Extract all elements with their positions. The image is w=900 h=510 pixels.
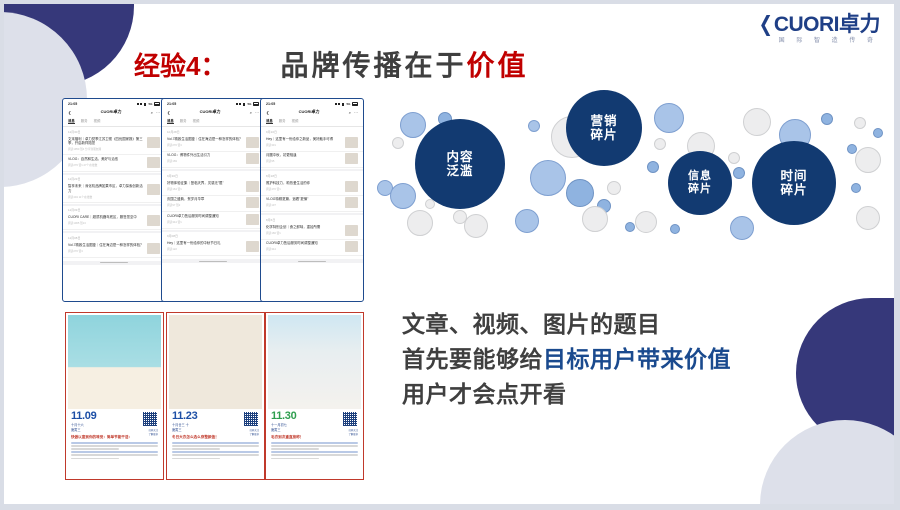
feed-item-thumbnail bbox=[246, 137, 259, 148]
feed-item-thumbnail bbox=[345, 153, 358, 164]
feed-item[interactable]: Hey｜这里有一份给你的中秋节日礼 阅读122 bbox=[162, 240, 264, 257]
feed-item[interactable]: VLOG特辑夏篇，追看"夏懂" 阅读137 bbox=[261, 196, 363, 213]
title-main-highlight: 价值 bbox=[466, 50, 528, 81]
feed-item-title: 化学特别企划｜食之鲜味，重拾所需 bbox=[266, 225, 342, 230]
feed-group: 8月6日 化学特别企划｜食之鲜味，重拾所需 阅读166 赞1 CUORI卓力售后… bbox=[261, 215, 363, 257]
feed-group: 9月10日 Hey｜这里有一份给你之新品，美好触手可得 阅读331 月圆中秋，初… bbox=[261, 127, 363, 169]
feed-item-thumbnail bbox=[147, 137, 160, 148]
feed-item[interactable]: CUORI卓力售后服务时间调整通知 阅读344 赞1 bbox=[162, 212, 264, 229]
feed-item[interactable]: VLOG：自然和生活，美好与治愈 阅读276 赞1 27个在线数 bbox=[63, 155, 165, 172]
bubble-major-3: 信息碎片 bbox=[668, 151, 732, 215]
bubble-decorative bbox=[873, 128, 883, 138]
poster-headline: 快做以度到你的味觉：简单节能干活： bbox=[71, 435, 158, 440]
status-icons: 5G bbox=[236, 102, 259, 106]
tab-1[interactable]: 服务 bbox=[180, 118, 187, 124]
search-icon[interactable]: ⌕ bbox=[250, 110, 252, 115]
home-indicator bbox=[63, 261, 165, 265]
status-icons: 5G bbox=[335, 102, 358, 106]
feed-item-thumbnail bbox=[246, 181, 259, 192]
bubble-decorative bbox=[851, 183, 861, 193]
feed-group: 11月09日 CUORI CARE｜超质机器年底区，服售您至中 阅读1065 赞… bbox=[63, 206, 165, 232]
feed-group: 10月28日 Vol.7精致生活图鉴｜住在海边是一种怎样的体验？ 阅读270 赞… bbox=[162, 127, 264, 169]
feed-item-thumbnail bbox=[147, 215, 160, 226]
feed-item-title: Vol.7精致生活图鉴｜住在海边是一种怎样的体验？ bbox=[167, 137, 243, 142]
feed-item-thumbnail bbox=[345, 197, 358, 208]
phone-nav-title: CUORI卓力 bbox=[101, 109, 122, 115]
feed-item-meta: 阅读331 bbox=[266, 143, 342, 147]
home-indicator bbox=[261, 259, 363, 263]
feed-item-title: Vol.7精致生活图鉴｜住在海边是一种怎样的体验？ bbox=[68, 243, 144, 248]
bubble-label: 时间碎片 bbox=[780, 169, 807, 198]
feed-item-title: 庆国之盛典，贺岁月华章 bbox=[167, 197, 243, 202]
feed-item-meta: 阅读344 bbox=[266, 247, 342, 251]
phone-tabs: 消息服务视频 bbox=[261, 117, 363, 127]
poster-1130: 11.30 十一月初七庚寅三 毛衣到次重直接称！ 扫码关注了解更多 bbox=[265, 312, 364, 480]
home-indicator bbox=[162, 259, 264, 263]
bubble-decorative bbox=[647, 161, 659, 173]
feed-item-thumbnail bbox=[345, 225, 358, 236]
bubble-major-2: 营销碎片 bbox=[566, 90, 642, 166]
poster-artwork bbox=[268, 315, 361, 409]
message-line-3: 用户才会点开看 bbox=[402, 377, 731, 412]
bubble-major-4: 时间碎片 bbox=[752, 141, 836, 225]
bubble-label: 内容泛滥 bbox=[446, 150, 473, 179]
bubble-decorative bbox=[530, 160, 566, 196]
tab-2[interactable]: 视频 bbox=[292, 118, 299, 124]
phone-3: 21:05 5G ❮ CUORI卓力 ⌕ ··· 消息服务视频9月10日 Hey… bbox=[260, 98, 364, 302]
feed-item[interactable]: 文末福利｜卓力熨季江苏卫视《四优国家报》第三季，开启新样陪您 阅读1950 赞4… bbox=[63, 135, 165, 155]
tab-0[interactable]: 消息 bbox=[167, 118, 174, 124]
bubble-decorative bbox=[856, 206, 880, 230]
tab-2[interactable]: 视频 bbox=[193, 118, 200, 124]
logo-chevron-icon: ❮ bbox=[758, 14, 772, 35]
feed-group: 9月30日 好物体验征集｜登临天界，灵感无"限" 阅读164 赞1 庆国之盛典，… bbox=[162, 171, 264, 230]
status-time: 21:05 bbox=[167, 102, 176, 106]
feed-item-thumbnail bbox=[345, 137, 358, 148]
brand-logo: ❮CUORI卓力 国 际 智 造 传 奇 bbox=[757, 14, 880, 44]
title-main-prefix: 品牌传播在于 bbox=[280, 50, 466, 81]
qr-code[interactable] bbox=[142, 411, 158, 427]
logo-wordmark: ❮CUORI卓力 bbox=[757, 14, 880, 35]
bubble-label: 信息碎片 bbox=[688, 170, 712, 195]
bubble-decorative bbox=[464, 214, 488, 238]
status-icons: 5G bbox=[137, 102, 160, 106]
phone-feed: 11月30日 文末福利｜卓力熨季江苏卫视《四优国家报》第三季，开启新样陪您 阅读… bbox=[63, 127, 165, 259]
poster-headline: 冬日大衣怎么选么穿整颜值！ bbox=[172, 435, 259, 440]
phone-nav-bar: ❮ CUORI卓力 ⌕ ··· bbox=[63, 107, 165, 117]
feed-item[interactable]: CUORI卓力售后服务时间调整通知 阅读344 bbox=[261, 240, 363, 257]
feed-item-title: 好物体验征集｜登临天界，灵感无"限" bbox=[167, 181, 243, 186]
feed-item-title: CUORI卓力售后服务时间调整通知 bbox=[167, 214, 243, 219]
feed-item[interactable]: Hey｜这里有一份给你之新品，美好触手可得 阅读331 bbox=[261, 135, 363, 152]
feed-item[interactable]: 智享未来｜深化机品牌如果市区，卓力探索创新活力 阅读404 11个在线数 bbox=[63, 183, 165, 203]
feed-item-title: CUORI CARE｜超质机器年底区，服售您至中 bbox=[68, 215, 144, 220]
bubble-decorative bbox=[566, 179, 594, 207]
feed-item-thumbnail bbox=[246, 214, 259, 225]
tab-0[interactable]: 消息 bbox=[68, 118, 75, 124]
feed-item[interactable]: 好物体验征集｜登临天界，灵感无"限" 阅读164 赞1 bbox=[162, 179, 264, 196]
feed-item-meta: 阅读470 赞1 bbox=[266, 187, 342, 191]
bubble-decorative bbox=[854, 117, 866, 129]
decoration-bottom-right-grey bbox=[760, 420, 894, 504]
phone-2: 21:05 5G ❮ CUORI卓力 ⌕ ··· 消息服务视频10月28日 Vo… bbox=[161, 98, 265, 302]
poster-headline: 毛衣到次重直接称！ bbox=[271, 435, 358, 440]
feed-item-meta: 阅读97 赞2 bbox=[167, 203, 243, 207]
feed-date: 11月23日 bbox=[63, 175, 165, 183]
poster-body-text bbox=[271, 442, 358, 459]
feed-item-thumbnail bbox=[246, 153, 259, 164]
bubble-decorative bbox=[582, 206, 608, 232]
battery-icon bbox=[352, 102, 358, 105]
phone-nav-title: CUORI卓力 bbox=[299, 109, 320, 115]
feed-item-meta: 阅读404 11个在线数 bbox=[68, 195, 144, 199]
feed-group: 11月08日 Vol.7精致生活图鉴｜住在海边是一种怎样的体验？ 阅读270 赞… bbox=[63, 233, 165, 259]
feed-date: 9月08日 bbox=[162, 232, 264, 240]
feed-item[interactable]: Vol.7精致生活图鉴｜住在海边是一种怎样的体验？ 阅读270 赞4 bbox=[162, 135, 264, 152]
feed-date: 8月6日 bbox=[261, 215, 363, 223]
feed-item-title: Hey｜这里有一份给你的中秋节日礼 bbox=[167, 241, 243, 246]
decoration-top-left-navy bbox=[4, 4, 134, 86]
bubble-decorative bbox=[528, 120, 540, 132]
feed-item-meta: 阅读1950 赞4 分享到朋友圈 bbox=[68, 147, 144, 151]
feed-item-meta: 阅读344 赞1 bbox=[167, 220, 243, 224]
feed-item-thumbnail bbox=[345, 181, 358, 192]
message-line-2-prefix: 首先要能够给 bbox=[402, 346, 543, 372]
feed-item-meta: 阅读166 赞1 bbox=[266, 231, 342, 235]
bubble-decorative bbox=[670, 224, 680, 234]
qr-code[interactable] bbox=[243, 411, 259, 427]
tab-2[interactable]: 视频 bbox=[94, 118, 101, 124]
phone-nav-bar: ❮ CUORI卓力 ⌕ ··· bbox=[261, 107, 363, 117]
feed-item-title: VLOG：博物件外出生活引力 bbox=[167, 153, 243, 158]
bubble-decorative bbox=[728, 152, 740, 164]
feed-item-thumbnail bbox=[147, 157, 160, 168]
feed-item-meta: 阅读169 bbox=[167, 159, 243, 163]
search-icon[interactable]: ⌕ bbox=[349, 110, 351, 115]
feed-date: 11月30日 bbox=[63, 127, 165, 135]
bubble-decorative bbox=[847, 144, 857, 154]
feed-item-meta: 阅读270 赞4 bbox=[167, 143, 243, 147]
bubble-decorative bbox=[654, 138, 666, 150]
back-icon[interactable]: ❮ bbox=[167, 110, 170, 115]
feed-item-meta: 阅读270 赞4 bbox=[68, 249, 144, 253]
feed-item-title: 月圆中秋，初更相逢 bbox=[266, 153, 342, 158]
feed-item-title: VLOG特辑夏篇，追看"夏懂" bbox=[266, 197, 342, 202]
feed-item-title: VLOG：自然和生活，美好与治愈 bbox=[68, 157, 144, 162]
phone-nav-bar: ❮ CUORI卓力 ⌕ ··· bbox=[162, 107, 264, 117]
bubble-decorative bbox=[855, 147, 881, 173]
message-line-1: 文章、视频、图片的题目 bbox=[402, 307, 731, 342]
battery-icon bbox=[154, 102, 160, 105]
bubble-decorative bbox=[821, 113, 833, 125]
feed-date: 9月30日 bbox=[162, 171, 264, 179]
bubble-decorative bbox=[515, 209, 539, 233]
feed-item-thumbnail bbox=[246, 197, 259, 208]
qr-caption: 扫码关注了解更多 bbox=[148, 428, 158, 436]
qr-caption: 扫码关注了解更多 bbox=[348, 428, 358, 436]
feed-item[interactable]: 照护科技力，助热爱生活的你 阅读470 赞1 bbox=[261, 179, 363, 196]
qr-caption: 扫码关注了解更多 bbox=[249, 428, 259, 436]
phone-status-bar: 21:05 5G bbox=[261, 99, 363, 107]
feed-item-thumbnail bbox=[147, 184, 160, 195]
tab-1[interactable]: 服务 bbox=[279, 118, 286, 124]
feed-item-meta: 阅读164 赞1 bbox=[167, 187, 243, 191]
bubble-decorative bbox=[400, 112, 426, 138]
bubble-major-1: 内容泛滥 bbox=[415, 119, 505, 209]
feed-item-meta: 阅读1065 赞13 bbox=[68, 221, 144, 225]
phone-1: 21:05 5G ❮ CUORI卓力 ⌕ ··· 消息服务视频11月30日 文末… bbox=[62, 98, 166, 302]
feed-item-thumbnail bbox=[246, 241, 259, 252]
phone-feed: 10月28日 Vol.7精致生活图鉴｜住在海边是一种怎样的体验？ 阅读270 赞… bbox=[162, 127, 264, 257]
message-line-2-highlight: 目标用户带来价值 bbox=[543, 346, 731, 372]
feed-date: 10月28日 bbox=[162, 127, 264, 135]
feed-item[interactable]: 庆国之盛典，贺岁月华章 阅读97 赞2 bbox=[162, 196, 264, 213]
feed-date: 11月08日 bbox=[63, 233, 165, 241]
feed-item-title: CUORI卓力售后服务时间调整通知 bbox=[266, 241, 342, 246]
slide-canvas: ❮CUORI卓力 国 际 智 造 传 奇 经验4： 品牌传播在于价值 内容泛滥营… bbox=[4, 4, 894, 504]
status-time: 21:05 bbox=[68, 102, 77, 106]
logo-text: CUORI卓力 bbox=[774, 13, 880, 36]
feed-item[interactable]: CUORI CARE｜超质机器年底区，服售您至中 阅读1065 赞13 bbox=[63, 214, 165, 231]
feed-item-thumbnail bbox=[147, 243, 160, 254]
qr-code[interactable] bbox=[342, 411, 358, 427]
bubble-decorative bbox=[733, 167, 745, 179]
poster-1123: 11.23 十月廿三 十庚寅三 冬日大衣怎么选么穿整颜值！ 扫码关注了解更多 bbox=[166, 312, 265, 480]
feed-item[interactable]: Vol.7精致生活图鉴｜住在海边是一种怎样的体验？ 阅读270 赞4 bbox=[63, 241, 165, 258]
feed-item[interactable]: VLOG：博物件外出生活引力 阅读169 bbox=[162, 152, 264, 169]
feed-item-meta: 阅读276 赞1 27个在线数 bbox=[68, 163, 144, 167]
feed-item[interactable]: 月圆中秋，初更相逢 阅读95 bbox=[261, 152, 363, 169]
bubble-decorative bbox=[743, 108, 771, 136]
bubble-decorative bbox=[730, 216, 754, 240]
feed-item-title: 文末福利｜卓力熨季江苏卫视《四优国家报》第三季，开启新样陪您 bbox=[68, 137, 144, 146]
phone-status-bar: 21:05 5G bbox=[63, 99, 165, 107]
phone-tabs: 消息服务视频 bbox=[162, 117, 264, 127]
bubble-decorative bbox=[392, 137, 404, 149]
key-message: 文章、视频、图片的题目 首先要能够给目标用户带来价值 用户才会点开看 bbox=[402, 307, 731, 412]
back-icon[interactable]: ❮ bbox=[68, 110, 71, 115]
bubble-decorative bbox=[635, 211, 657, 233]
feed-item-thumbnail bbox=[345, 241, 358, 252]
bubble-decorative bbox=[625, 222, 635, 232]
decoration-bottom-right-navy bbox=[796, 298, 894, 448]
feed-item-title: 照护科技力，助热爱生活的你 bbox=[266, 181, 342, 186]
poster-artwork bbox=[169, 315, 262, 409]
more-icon[interactable]: ··· bbox=[354, 110, 358, 115]
tab-0[interactable]: 消息 bbox=[266, 118, 273, 124]
feed-date: 11月09日 bbox=[63, 206, 165, 214]
feed-group: 11月23日 智享未来｜深化机品牌如果市区，卓力探索创新活力 阅读404 11个… bbox=[63, 175, 165, 204]
phone-nav-title: CUORI卓力 bbox=[200, 109, 221, 115]
poster-1109: 11.09 十月十六庚寅三 快做以度到你的味觉：简单节能干活： 扫码关注了解更多 bbox=[65, 312, 164, 480]
title-label: 经验4： bbox=[134, 46, 226, 83]
bubble-decorative bbox=[390, 183, 416, 209]
feed-item-meta: 阅读137 bbox=[266, 203, 342, 207]
bubble-decorative bbox=[607, 181, 621, 195]
more-icon[interactable]: ··· bbox=[156, 110, 160, 115]
poster-artwork bbox=[68, 315, 161, 409]
search-icon[interactable]: ⌕ bbox=[151, 110, 153, 115]
feed-item[interactable]: 化学特别企划｜食之鲜味，重拾所需 阅读166 赞1 bbox=[261, 223, 363, 240]
feed-group: 11月30日 文末福利｜卓力熨季江苏卫视《四优国家报》第三季，开启新样陪您 阅读… bbox=[63, 127, 165, 173]
feed-item-meta: 阅读95 bbox=[266, 159, 342, 163]
bubble-label: 营销碎片 bbox=[590, 114, 617, 143]
tab-1[interactable]: 服务 bbox=[81, 118, 88, 124]
battery-icon bbox=[253, 102, 259, 105]
feed-item-title: 智享未来｜深化机品牌如果市区，卓力探索创新活力 bbox=[68, 184, 144, 193]
status-time: 21:05 bbox=[266, 102, 275, 106]
feed-group: 9月08日 Hey｜这里有一份给你的中秋节日礼 阅读122 bbox=[162, 232, 264, 258]
bubble-chart: 内容泛滥营销碎片信息碎片时间碎片 bbox=[382, 78, 894, 253]
phone-feed: 9月10日 Hey｜这里有一份给你之新品，美好触手可得 阅读331 月圆中秋，初… bbox=[261, 127, 363, 257]
message-line-2: 首先要能够给目标用户带来价值 bbox=[402, 342, 731, 377]
back-icon[interactable]: ❮ bbox=[266, 110, 269, 115]
phone-status-bar: 21:05 5G bbox=[162, 99, 264, 107]
feed-group: 8月18日 照护科技力，助热爱生活的你 阅读470 赞1 VLOG特辑夏篇，追看… bbox=[261, 171, 363, 213]
bubble-decorative bbox=[407, 210, 433, 236]
bubble-decorative bbox=[654, 103, 684, 133]
phone-tabs: 消息服务视频 bbox=[63, 117, 165, 127]
more-icon[interactable]: ··· bbox=[255, 110, 259, 115]
logo-tagline: 国 际 智 造 传 奇 bbox=[757, 38, 880, 44]
feed-item-title: Hey｜这里有一份给你之新品，美好触手可得 bbox=[266, 137, 342, 142]
feed-item-meta: 阅读122 bbox=[167, 247, 243, 251]
poster-body-text bbox=[71, 442, 158, 459]
slide-root: ❮CUORI卓力 国 际 智 造 传 奇 经验4： 品牌传播在于价值 内容泛滥营… bbox=[0, 0, 900, 510]
feed-date: 9月10日 bbox=[261, 127, 363, 135]
poster-body-text bbox=[172, 442, 259, 459]
feed-date: 8月18日 bbox=[261, 171, 363, 179]
